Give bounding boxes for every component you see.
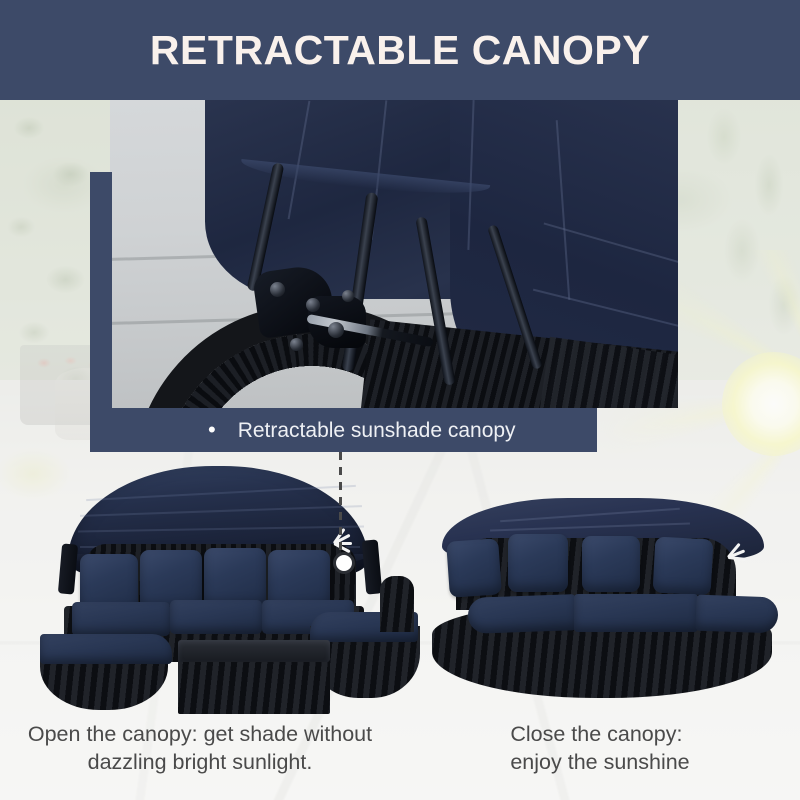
caption-left: Open the canopy: get shade without dazzl… [0, 716, 400, 800]
feature-callout-text: Retractable sunshade canopy [238, 420, 516, 441]
product-right-canopy-closed [412, 498, 794, 716]
bolt-icon [306, 298, 320, 312]
canopy-support-post-left [58, 543, 78, 594]
caption-right: Close the canopy: enjoy the sunshine [400, 716, 800, 800]
bolt-icon [290, 338, 303, 351]
bullet-icon: • [208, 419, 216, 441]
ottoman-left-cushion [40, 634, 172, 664]
cushion-pillow [653, 537, 714, 596]
seat-cushion [695, 595, 778, 634]
side-armrest [380, 576, 414, 632]
cushion-pillow [508, 534, 568, 592]
connector-dot-marker [333, 552, 355, 574]
seat-cushion [72, 602, 170, 636]
cushion-pillow [204, 548, 266, 608]
bottom-caption-row: Open the canopy: get shade without dazzl… [0, 716, 800, 800]
product-infographic: RETRACTABLE CANOPY • Retrac [0, 0, 800, 800]
seat-cushion [170, 600, 262, 634]
cushion-pillow [582, 536, 640, 592]
header-banner: RETRACTABLE CANOPY [0, 0, 800, 100]
coffee-table-glass-top [178, 640, 330, 662]
seat-cushion [467, 594, 576, 634]
bolt-icon [270, 282, 285, 297]
connector-dashed-line [339, 452, 342, 562]
canopy-crank-handle-icon [712, 542, 748, 572]
bolt-icon [342, 290, 354, 302]
feature-callout-bar: • Retractable sunshade canopy [90, 408, 597, 452]
canopy-support-post-right [362, 539, 383, 594]
bolt-icon [328, 322, 344, 338]
product-left-canopy-open [28, 466, 418, 716]
canopy-mechanism-photo [110, 100, 678, 408]
caption-left-text: Open the canopy: get shade without dazzl… [28, 720, 372, 777]
caption-right-text: Close the canopy: enjoy the sunshine [510, 720, 689, 777]
seat-cushion [574, 594, 698, 632]
page-title: RETRACTABLE CANOPY [150, 30, 650, 71]
cushion-pillow [446, 538, 502, 597]
